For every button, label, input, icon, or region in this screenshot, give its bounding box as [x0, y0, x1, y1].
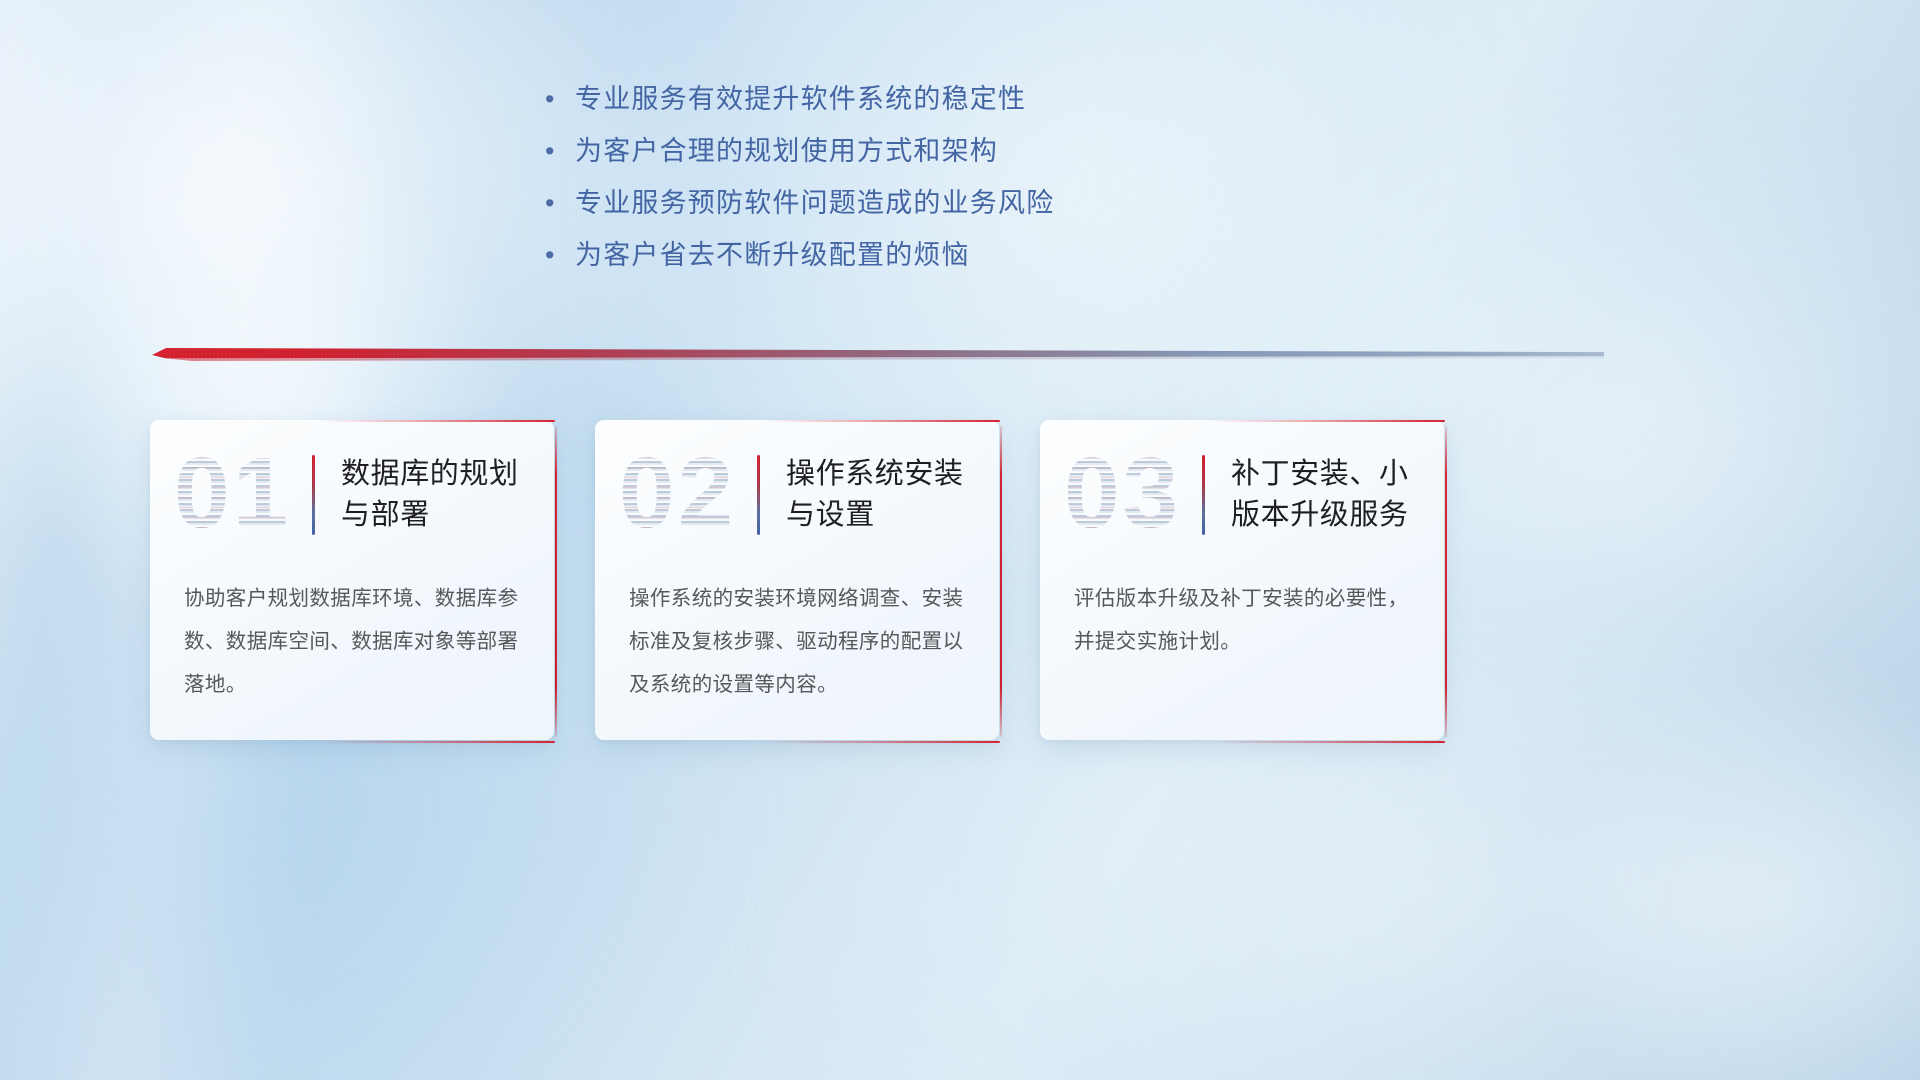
- ghost-number-02: 02 02: [617, 443, 745, 547]
- card-title-line: 补丁安装、小: [1231, 454, 1409, 495]
- service-card-row: 01 01 数据库的规划 与部署 协助客户规划数据库环境、数据库参数、数据库空间…: [150, 420, 1770, 740]
- card-header: 01 01 数据库的规划 与部署: [150, 420, 554, 570]
- background-glow-far-right: [1560, 690, 1920, 1080]
- card-title-line: 数据库的规划: [341, 454, 519, 495]
- bullet-text: 专业服务预防软件问题造成的业务风险: [575, 190, 1054, 217]
- bullet-dot-icon: •: [545, 190, 575, 217]
- service-card-03[interactable]: 03 03 补丁安装、小 版本升级服务 评估版本升级及补丁安装的必要性，并提交实…: [1040, 420, 1444, 740]
- card-body-text: 协助客户规划数据库环境、数据库参数、数据库空间、数据库对象等部署落地。: [150, 570, 554, 707]
- slide-canvas: • 专业服务有效提升软件系统的稳定性 • 为客户合理的规划使用方式和架构 • 专…: [0, 0, 1920, 1080]
- card-title-line: 操作系统安装: [786, 454, 964, 495]
- benefits-bullet-list: • 专业服务有效提升软件系统的稳定性 • 为客户合理的规划使用方式和架构 • 专…: [545, 86, 1545, 294]
- list-item: • 为客户省去不断升级配置的烦恼: [545, 242, 1545, 294]
- ghost-number-03: 03 03: [1062, 443, 1190, 547]
- service-card-02[interactable]: 02 02 操作系统安装 与设置 操作系统的安装环境网络调查、安装标准及复核步骤…: [595, 420, 999, 740]
- svg-text:01: 01: [174, 443, 291, 547]
- card-title-rule: [757, 455, 760, 535]
- list-item: • 专业服务有效提升软件系统的稳定性: [545, 86, 1545, 138]
- svg-text:03: 03: [1064, 443, 1181, 547]
- card-header: 02 02 操作系统安装 与设置: [595, 420, 999, 570]
- card-title-line: 与部署: [341, 495, 519, 536]
- service-card-01[interactable]: 01 01 数据库的规划 与部署 协助客户规划数据库环境、数据库参数、数据库空间…: [150, 420, 554, 740]
- card-title-line: 版本升级服务: [1231, 495, 1409, 536]
- card-title-rule: [1202, 455, 1205, 535]
- bullet-text: 为客户省去不断升级配置的烦恼: [575, 242, 970, 269]
- card-title-rule: [312, 455, 315, 535]
- list-item: • 专业服务预防软件问题造成的业务风险: [545, 190, 1545, 242]
- card-title: 补丁安装、小 版本升级服务: [1231, 454, 1409, 536]
- bullet-text: 为客户合理的规划使用方式和架构: [575, 138, 998, 165]
- card-title: 数据库的规划 与部署: [341, 454, 519, 536]
- bullet-dot-icon: •: [545, 242, 575, 269]
- svg-text:02: 02: [619, 443, 736, 547]
- list-item: • 为客户合理的规划使用方式和架构: [545, 138, 1545, 190]
- bullet-dot-icon: •: [545, 86, 575, 113]
- card-title: 操作系统安装 与设置: [786, 454, 964, 536]
- bullet-text: 专业服务有效提升软件系统的稳定性: [575, 86, 1026, 113]
- card-body-text: 操作系统的安装环境网络调查、安装标准及复核步骤、驱动程序的配置以及系统的设置等内…: [595, 570, 999, 707]
- card-header: 03 03 补丁安装、小 版本升级服务: [1040, 420, 1444, 570]
- card-title-line: 与设置: [786, 495, 964, 536]
- bullet-dot-icon: •: [545, 138, 575, 165]
- card-body-text: 评估版本升级及补丁安装的必要性，并提交实施计划。: [1040, 570, 1444, 664]
- section-divider: [152, 345, 1604, 365]
- ghost-number-01: 01 01: [172, 443, 300, 547]
